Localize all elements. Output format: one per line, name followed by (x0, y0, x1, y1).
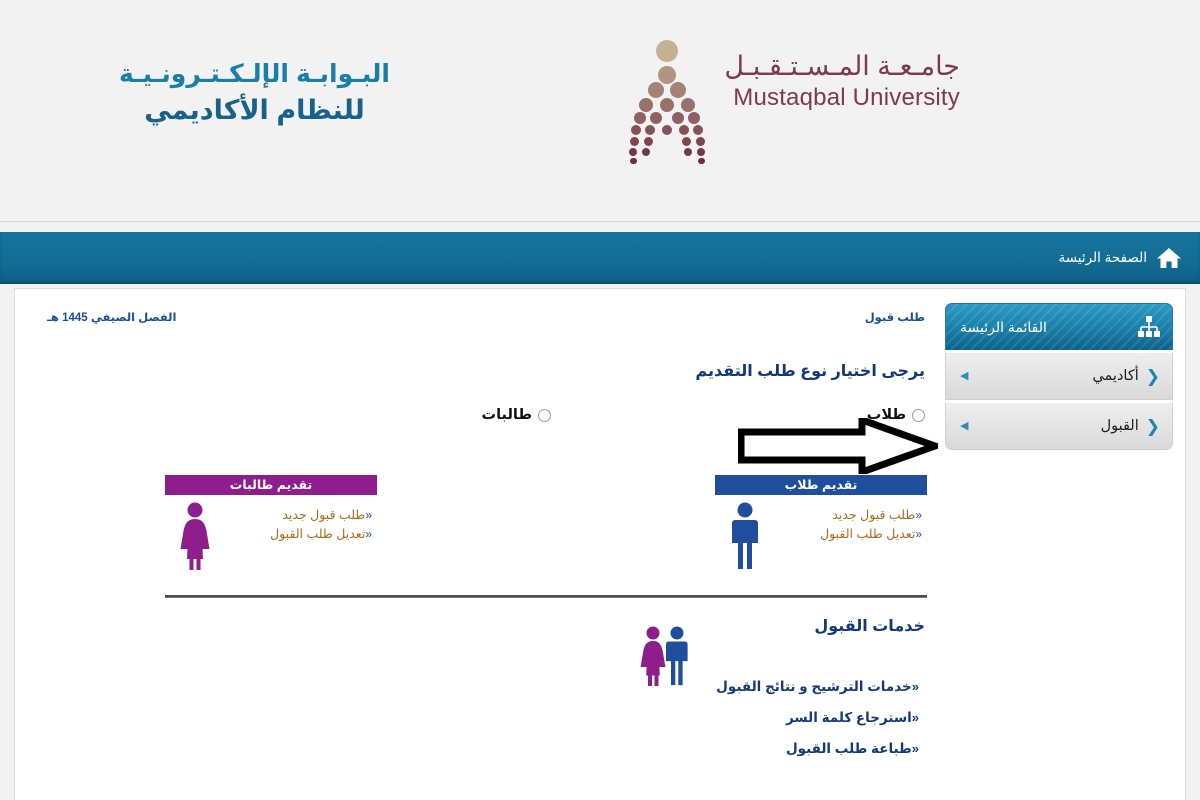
chevron-left-icon: ❮ (1146, 368, 1160, 385)
application-type-radio-group: طلاب طالبات (15, 407, 933, 433)
sidebar-header: القائمة الرئيسة (945, 303, 1173, 350)
radio-option-female-label: طالبات (482, 407, 532, 423)
nav-home-label: الصفحة الرئيسة (1058, 250, 1147, 266)
panel-female-body: «طلب قبول جديد «تعديل طلب القبول (165, 495, 377, 577)
page-header: البـوابـة الإلـكـتـرونـيـة للنظام الأكاد… (0, 0, 1200, 222)
sidebar-item-admission-content: ❮ القبول (1101, 418, 1160, 435)
semester-label: الفصل الصيفي 1445 هـ (47, 310, 176, 324)
female-figure-icon (173, 501, 217, 571)
double-chevron-left-icon: « (365, 508, 372, 522)
top-navigation-bar: الصفحة الرئيسة (0, 232, 1200, 284)
panel-female-application: تقديم طالبات «طلب قبول جديد «تعديل طلب ا… (165, 475, 377, 577)
portal-title-line1: البـوابـة الإلـكـتـرونـيـة (119, 58, 390, 91)
link-print-application-label: طباعة طلب القبول (786, 741, 912, 756)
main-menu-sidebar: القائمة الرئيسة ❮ أكاديمي ◀ ❮ القبول ◀ (945, 303, 1173, 450)
nav-home-link[interactable]: الصفحة الرئيسة (1058, 232, 1182, 284)
link-edit-admission-male-label: تعديل طلب القبول (820, 527, 915, 541)
chevron-small-left-icon: ◀ (960, 421, 968, 432)
panel-male-application: تقديم طلاب «طلب قبول جديد «تعديل طلب الق… (715, 475, 927, 577)
double-chevron-left-icon: « (915, 508, 922, 522)
sidebar-item-academic-label: أكاديمي (1092, 368, 1138, 384)
breadcrumb-row: طلب قبول الفصل الصيفي 1445 هـ (31, 310, 933, 328)
link-new-admission-male-label: طلب قبول جديد (832, 508, 915, 522)
link-new-admission-female-label: طلب قبول جديد (282, 508, 365, 522)
male-figure-icon (723, 501, 767, 571)
couple-figures-icon (637, 625, 693, 687)
sidebar-header-label: القائمة الرئيسة (956, 319, 1128, 336)
portal-title-line2: للنظام الأكاديمي (119, 93, 390, 129)
home-icon (1156, 246, 1182, 270)
double-chevron-left-icon: « (365, 527, 372, 541)
link-recover-password[interactable]: «استرجاع كلمة السر (716, 702, 925, 733)
brand-name-english: Mustaqbal University (724, 84, 960, 113)
link-nomination-results[interactable]: «خدمات الترشيح و نتائج القبول (716, 671, 925, 702)
radio-option-male-label: طلاب (867, 407, 906, 423)
admission-body: طلب قبول الفصل الصيفي 1445 هـ يرجى اختيا… (15, 289, 933, 800)
double-chevron-left-icon: « (915, 527, 922, 541)
page-title: يرجى اختيار نوع طلب التقديم (695, 361, 925, 381)
chevron-small-left-icon: ◀ (960, 371, 968, 382)
services-links: «خدمات الترشيح و نتائج القبول «استرجاع ك… (716, 671, 925, 764)
panel-female-title: تقديم طالبات (165, 475, 377, 495)
link-print-application[interactable]: «طباعة طلب القبول (716, 733, 925, 764)
portal-title: البـوابـة الإلـكـتـرونـيـة للنظام الأكاد… (119, 58, 390, 129)
panel-male-body: «طلب قبول جديد «تعديل طلب القبول (715, 495, 927, 577)
section-divider (165, 595, 927, 598)
brand-text: جامـعـة المـسـتـقـبـل Mustaqbal Universi… (724, 50, 960, 113)
link-edit-admission-female-label: تعديل طلب القبول (270, 527, 365, 541)
sidebar-item-admission[interactable]: ❮ القبول ◀ (945, 402, 1173, 450)
link-nomination-results-label: خدمات الترشيح و نتائج القبول (716, 679, 912, 694)
sitemap-icon (1136, 314, 1162, 340)
services-section-title: خدمات القبول (814, 616, 925, 636)
radio-unchecked-icon[interactable] (912, 409, 925, 422)
university-brand: جامـعـة المـسـتـقـبـل Mustaqbal Universi… (628, 50, 960, 168)
chevron-left-icon: ❮ (1146, 418, 1160, 435)
sidebar-item-academic[interactable]: ❮ أكاديمي ◀ (945, 352, 1173, 400)
double-chevron-left-icon: « (912, 741, 919, 756)
sidebar-item-academic-content: ❮ أكاديمي (1092, 368, 1160, 385)
sidebar-item-admission-label: القبول (1101, 418, 1139, 434)
radio-option-male-students[interactable]: طلاب (867, 407, 925, 423)
double-chevron-left-icon: « (912, 679, 919, 694)
brand-name-arabic: جامـعـة المـسـتـقـبـل (724, 50, 960, 84)
panel-male-title: تقديم طلاب (715, 475, 927, 495)
breadcrumb[interactable]: طلب قبول (865, 310, 925, 324)
radio-unchecked-icon[interactable] (538, 409, 551, 422)
dot-pyramid-logo-icon (628, 38, 706, 168)
main-content-panel: القائمة الرئيسة ❮ أكاديمي ◀ ❮ القبول ◀ ط… (14, 288, 1186, 800)
link-recover-password-label: استرجاع كلمة السر (786, 710, 912, 725)
radio-option-female-students[interactable]: طالبات (482, 407, 551, 423)
double-chevron-left-icon: « (912, 710, 919, 725)
